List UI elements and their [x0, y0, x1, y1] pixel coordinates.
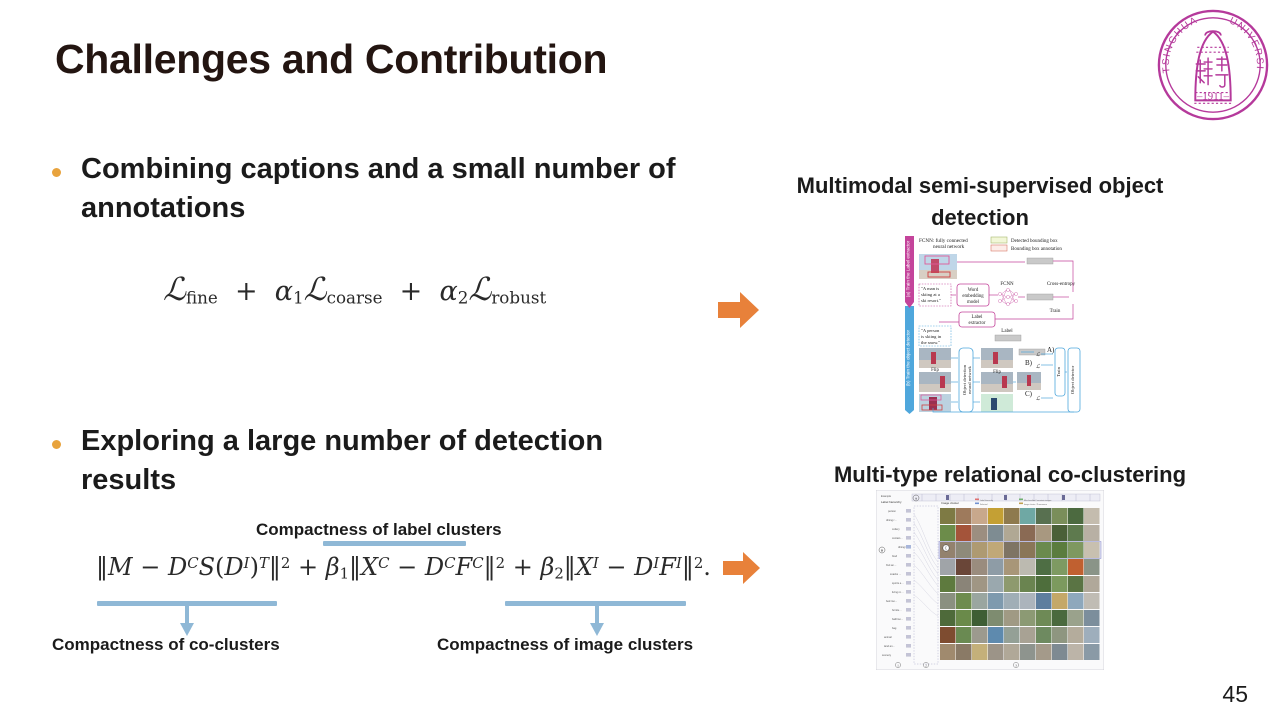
bullet-item-2: Exploring a large number of detection re… [52, 422, 681, 500]
svg-text:Word: Word [968, 288, 979, 293]
svg-text:FCNN: fully connected: FCNN: fully connected [919, 237, 968, 244]
page-number: 45 [1222, 681, 1248, 708]
bullet-dot-icon [52, 440, 61, 449]
svg-text:land an…: land an… [884, 644, 896, 648]
coclustering-formula: ‖M − DCS(DI)T‖2 + β1‖XC − DCFC‖2 + β2‖XI… [96, 553, 711, 582]
svg-text:Train: Train [1050, 309, 1061, 314]
svg-text:is skiing in: is skiing in [921, 334, 942, 339]
svg-text:Image cluster: Image cluster [941, 501, 959, 505]
svg-text:extractor: extractor [968, 321, 985, 326]
svg-text:cutlery: cutlery [892, 527, 900, 531]
svg-text:Mis-classified / uncertain ima: Mis-classified / uncertain images [1024, 499, 1051, 502]
svg-text:Flip: Flip [993, 370, 1001, 375]
svg-text:sports e…: sports e… [892, 581, 904, 585]
svg-text:model: model [967, 300, 980, 305]
annotation-line-top [323, 541, 466, 546]
co-clustering-interface-screenshot: Example Label hierarchy person dining r…… [876, 490, 1104, 670]
annotation-label-image-clusters: Compactness of image clusters [437, 635, 693, 655]
annotation-label-co-clusters: Compactness of co-clusters [52, 635, 280, 655]
svg-text:Label hierarchy: Label hierarchy [980, 499, 993, 502]
svg-text:TSINGHUA: TSINGHUA [1161, 15, 1200, 74]
orange-arrow-right-icon-2 [723, 549, 761, 587]
svg-text:C): C) [1025, 390, 1033, 398]
svg-text:the snow.": the snow." [921, 340, 940, 345]
bullet-item-2-label: Exploring a large number of detection re… [81, 422, 681, 500]
interface-screenshot-svg: Example Label hierarchy person dining r…… [876, 490, 1104, 670]
svg-text:"A man is: "A man is [921, 286, 939, 291]
svg-text:"A person: "A person [921, 328, 940, 333]
svg-text:Example: Example [881, 494, 892, 498]
svg-text:Label: Label [972, 315, 984, 320]
svg-text:FCNN: FCNN [1000, 282, 1014, 287]
svg-text:Image cluster / Provenance: Image cluster / Provenance [1024, 503, 1047, 506]
tsinghua-university-seal: TSINGHUA UNIVERSITY –1911– [1154, 6, 1272, 124]
svg-text:snacks …: snacks … [890, 572, 902, 576]
svg-text:scenery: scenery [882, 653, 892, 657]
svg-text:ski resort.": ski resort." [921, 298, 941, 303]
svg-text:bag: bag [892, 626, 897, 630]
annotation-label-label-clusters: Compactness of label clusters [256, 520, 502, 540]
svg-text:skiing at a: skiing at a [921, 292, 940, 297]
svg-text:Object detector: Object detector [1070, 365, 1075, 394]
svg-text:A): A) [1047, 346, 1055, 354]
bullet-item-1: Combining captions and a small number of… [52, 150, 681, 228]
page-title: Challenges and Contribution [55, 36, 607, 83]
loss-formula: ℒfine + α1ℒcoarse + α2ℒrobust [163, 270, 546, 308]
svg-text:Flip: Flip [931, 368, 939, 373]
bullet-dot-icon [52, 168, 61, 177]
svg-text:(a) Train the Label extractor: (a) Train the Label extractor [906, 240, 911, 297]
svg-text:bathroo…: bathroo… [892, 617, 904, 621]
svg-text:neural network: neural network [967, 365, 972, 393]
right-panel-heading-1: Multimodal semi-supervised object detect… [770, 170, 1190, 234]
svg-text:Detected bounding box: Detected bounding box [1011, 239, 1058, 244]
svg-text:Train: Train [1056, 366, 1061, 376]
annotation-arrow-down-left-icon [178, 603, 196, 639]
svg-text:furnitu…: furnitu… [892, 608, 902, 612]
svg-text:fruit an…: fruit an… [886, 563, 897, 567]
svg-text:B): B) [1025, 359, 1033, 367]
svg-text:contain…: contain… [892, 536, 903, 540]
svg-text:Cross-entropy: Cross-entropy [1047, 282, 1076, 287]
annotation-arrow-down-right-icon [588, 603, 606, 639]
svg-text:bed roo…: bed roo… [886, 599, 898, 603]
svg-text:living ro…: living ro… [892, 590, 904, 594]
svg-text:animal: animal [884, 635, 892, 639]
svg-text:neural network: neural network [933, 244, 965, 250]
svg-text:–1911–: –1911– [1196, 90, 1230, 102]
multimodal-pipeline-diagram: (a) Train the Label extractor (b) Train … [903, 232, 1083, 414]
orange-arrow-right-icon-1 [718, 289, 760, 331]
svg-text:food: food [892, 554, 898, 558]
svg-text:Label: Label [1001, 329, 1013, 334]
svg-text:Selected: Selected [980, 503, 987, 506]
pipeline-diagram-svg: (a) Train the Label extractor (b) Train … [903, 232, 1083, 414]
right-panel-heading-2: Multi-type relational co-clustering [760, 459, 1260, 491]
svg-text:dining r…: dining r… [886, 518, 898, 522]
svg-text:Bounding box annotation: Bounding box annotation [1011, 247, 1062, 252]
svg-text:Label hierarchy: Label hierarchy [881, 500, 902, 504]
bullet-item-1-label: Combining captions and a small number of… [81, 150, 681, 228]
svg-text:person: person [888, 509, 896, 513]
svg-text:embedding: embedding [962, 294, 984, 299]
svg-text:(b) Train the object detector: (b) Train the object detector [906, 329, 911, 386]
